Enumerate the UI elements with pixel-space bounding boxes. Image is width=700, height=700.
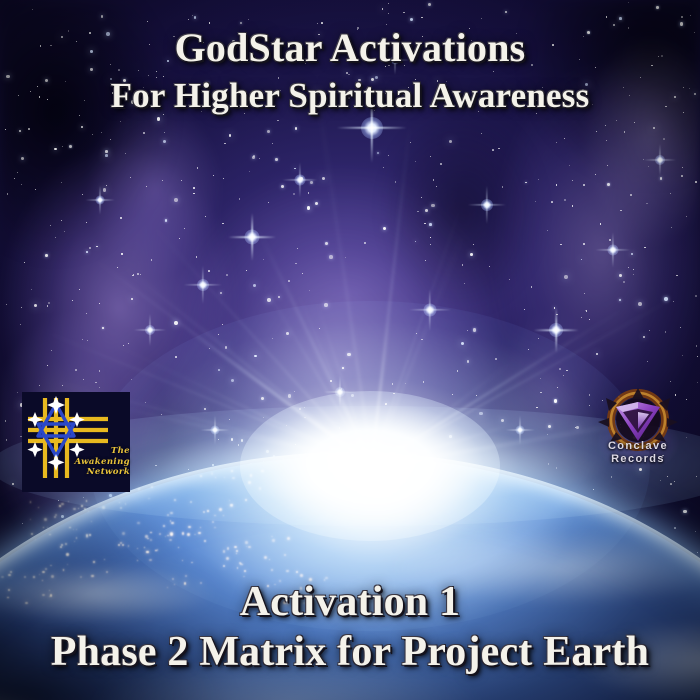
album-cover: GodStar Activations For Higher Spiritual…: [0, 0, 700, 700]
track-title: Activation 1: [0, 578, 700, 626]
conclave-records-logo: Conclave Records: [592, 388, 684, 482]
awakening-line-1: The: [54, 446, 130, 457]
track-subtitle: Phase 2 Matrix for Project Earth: [0, 628, 700, 676]
awakening-network-wordmark: The Awakening Network: [54, 446, 130, 478]
conclave-records-wordmark: Conclave Records: [592, 440, 684, 465]
awakening-line-2: Awakening: [54, 457, 130, 468]
awakening-network-logo: The Awakening Network: [22, 392, 130, 492]
conclave-line-1: Conclave: [592, 440, 684, 453]
conclave-line-2: Records: [592, 453, 684, 466]
album-title: GodStar Activations: [0, 24, 700, 71]
awakening-line-3: Network: [54, 467, 130, 478]
album-subtitle: For Higher Spiritual Awareness: [0, 76, 700, 116]
